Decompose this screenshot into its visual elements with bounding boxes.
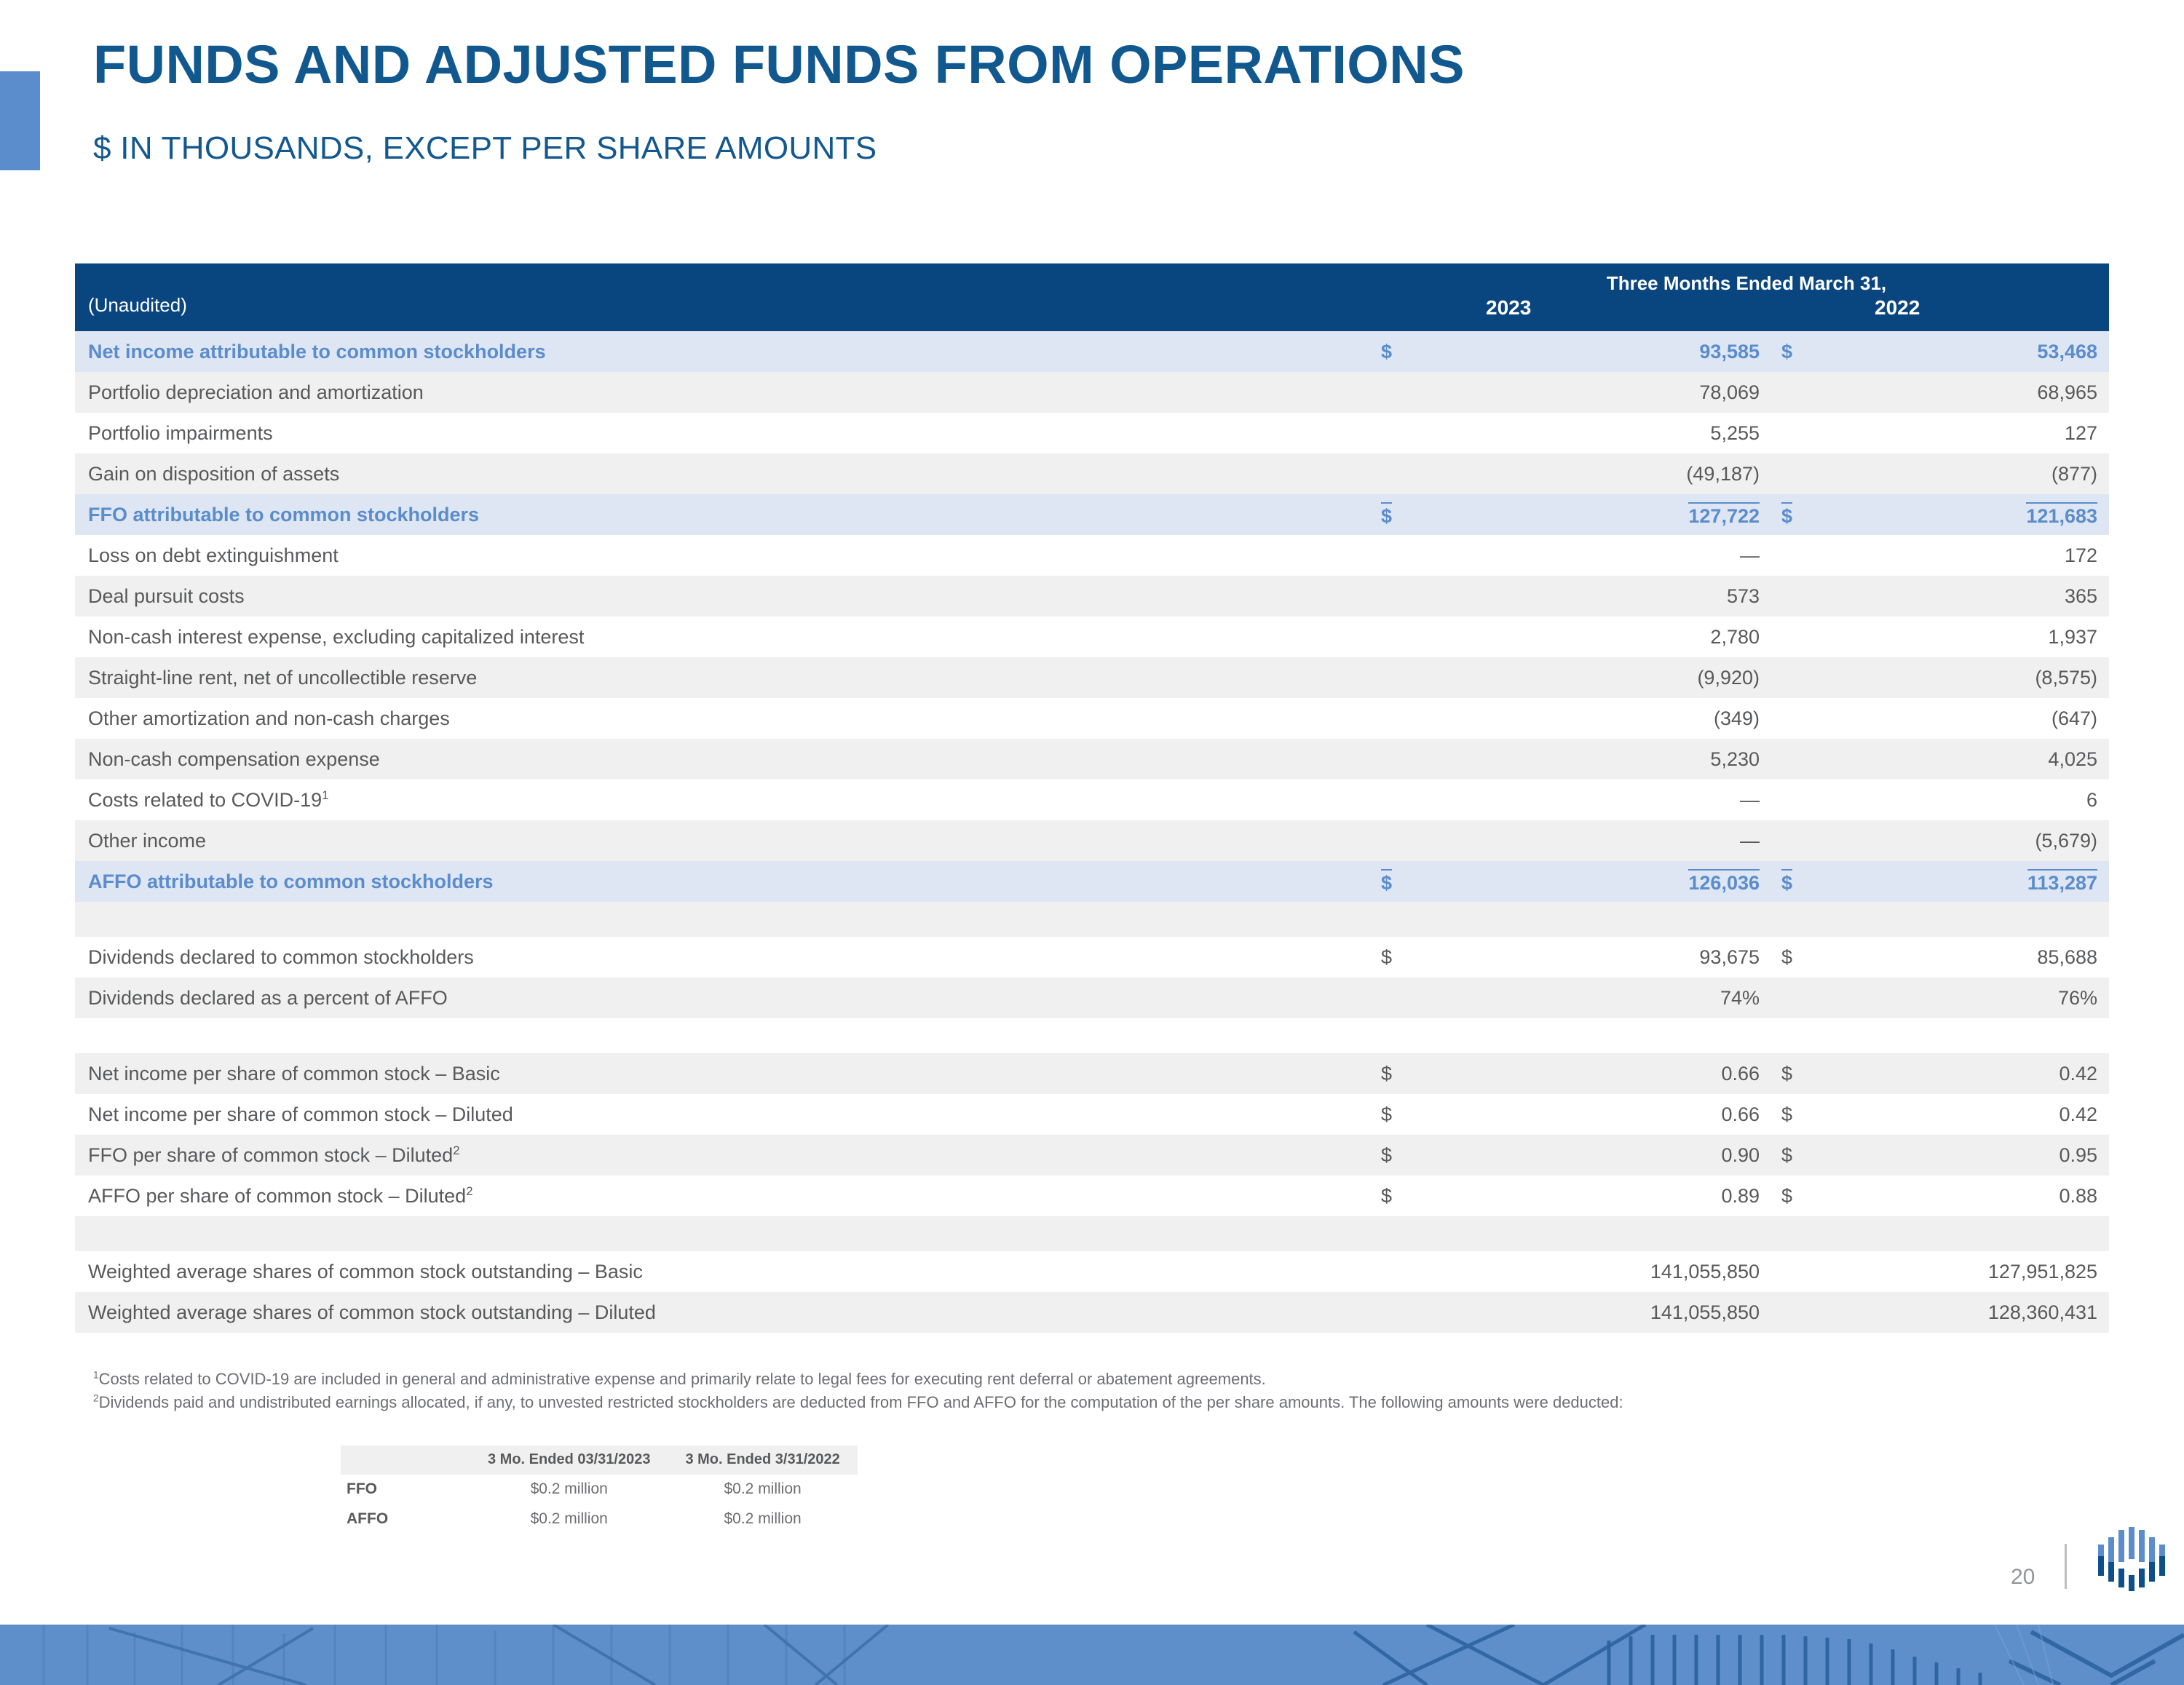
footnote-1-text: Costs related to COVID-19 are included i… (99, 1370, 1266, 1388)
row-label: Portfolio depreciation and amortization (75, 372, 1371, 413)
row-value-2023: 5,255 (1458, 413, 1771, 453)
row-value-2022: 1,937 (1859, 616, 2109, 657)
financial-table: (Unaudited) Three Months Ended March 31,… (75, 263, 2109, 1333)
row-currency-2022 (1771, 820, 1859, 861)
table-row: Weighted average shares of common stock … (75, 1292, 2109, 1333)
row-label: Net income attributable to common stockh… (75, 331, 1371, 372)
row-label: Portfolio impairments (75, 413, 1371, 453)
table-header-block: (Unaudited) Three Months Ended March 31,… (75, 263, 2109, 331)
row-value-2023 (1458, 1216, 1771, 1251)
table-row: FFO per share of common stock – Diluted2… (75, 1135, 2109, 1175)
footnote-table-row: FFO$0.2 million$0.2 million (341, 1475, 858, 1504)
table-row: Deal pursuit costs573365 (75, 576, 2109, 616)
row-label: Gain on disposition of assets (75, 453, 1371, 494)
row-label: Other amortization and non-cash charges (75, 698, 1371, 739)
row-value-2023: 74% (1458, 978, 1771, 1018)
row-value-2023 (1458, 1018, 1771, 1053)
row-value-2022: 121,683 (1859, 494, 2109, 535)
row-currency-2023 (1371, 1251, 1458, 1292)
row-value-2022: 128,360,431 (1859, 1292, 2109, 1333)
row-currency-2022: $ (1771, 1053, 1859, 1094)
table-row: Non-cash interest expense, excluding cap… (75, 616, 2109, 657)
row-currency-2022 (1771, 657, 1859, 698)
footnote-row-value-2023: $0.2 million (470, 1504, 668, 1534)
row-label: FFO attributable to common stockholders (75, 494, 1371, 535)
table-row: AFFO per share of common stock – Diluted… (75, 1175, 2109, 1216)
table-row: Gain on disposition of assets(49,187)(87… (75, 453, 2109, 494)
row-label: AFFO per share of common stock – Diluted… (75, 1175, 1371, 1216)
table-row: FFO attributable to common stockholders$… (75, 494, 2109, 535)
row-value-2022 (1859, 1018, 2109, 1053)
footnote-col-1: 3 Mo. Ended 03/31/2023 (470, 1446, 668, 1475)
row-currency-2023 (1371, 1018, 1458, 1053)
row-value-2023: 0.90 (1458, 1135, 1771, 1175)
table-row: Weighted average shares of common stock … (75, 1251, 2109, 1292)
row-currency-2022 (1771, 902, 1859, 937)
footnote-col-0 (341, 1446, 470, 1475)
row-label: Weighted average shares of common stock … (75, 1292, 1371, 1333)
row-value-2022: (877) (1859, 453, 2109, 494)
footnote-2: 2Dividends paid and undistributed earnin… (93, 1392, 2030, 1414)
row-value-2022 (1859, 1216, 2109, 1251)
row-currency-2023: $ (1371, 494, 1458, 535)
row-currency-2023 (1371, 1292, 1458, 1333)
footnote-2-marker: 2 (93, 1393, 99, 1404)
row-label: Dividends declared to common stockholder… (75, 937, 1371, 978)
row-currency-2022 (1771, 780, 1859, 820)
row-currency-2023: $ (1371, 331, 1458, 372)
row-label (75, 902, 1371, 937)
row-currency-2022 (1771, 1216, 1859, 1251)
row-currency-2022 (1771, 1018, 1859, 1053)
table-header-row: (Unaudited) Three Months Ended March 31,… (75, 263, 2109, 331)
row-value-2022: 0.88 (1859, 1175, 2109, 1216)
row-label: AFFO attributable to common stockholders (75, 861, 1371, 902)
table-row: Dividends declared to common stockholder… (75, 937, 2109, 978)
row-value-2022: (8,575) (1859, 657, 2109, 698)
row-label (75, 1018, 1371, 1053)
footnote-row-value-2023: $0.2 million (470, 1475, 668, 1504)
row-currency-2023 (1371, 453, 1458, 494)
row-value-2022: 0.42 (1859, 1053, 2109, 1094)
table-row: Other amortization and non-cash charges(… (75, 698, 2109, 739)
page-number: 20 (2011, 1565, 2035, 1590)
table-row: Straight-line rent, net of uncollectible… (75, 657, 2109, 698)
row-value-2023: — (1458, 780, 1771, 820)
footnote-1-marker: 1 (93, 1370, 99, 1381)
row-value-2022: 6 (1859, 780, 2109, 820)
row-currency-2023 (1371, 657, 1458, 698)
table-spacer-row (75, 1018, 2109, 1053)
footnote-col-2: 3 Mo. Ended 3/31/2022 (668, 1446, 857, 1475)
table-row: Net income per share of common stock – D… (75, 1094, 2109, 1135)
row-value-2023: 127,722 (1458, 494, 1771, 535)
row-currency-2023 (1371, 978, 1458, 1018)
page-subtitle: $ IN THOUSANDS, EXCEPT PER SHARE AMOUNTS (93, 132, 877, 164)
row-value-2023: 126,036 (1458, 861, 1771, 902)
footnote-table-body: FFO$0.2 million$0.2 millionAFFO$0.2 mill… (341, 1475, 858, 1534)
row-value-2023: 5,230 (1458, 739, 1771, 780)
table-row: Other income—(5,679) (75, 820, 2109, 861)
row-currency-2023 (1371, 576, 1458, 616)
footnote-1: 1Costs related to COVID-19 are included … (93, 1368, 2030, 1390)
row-value-2023: 141,055,850 (1458, 1292, 1771, 1333)
table-row: Net income per share of common stock – B… (75, 1053, 2109, 1094)
row-label: Loss on debt extinguishment (75, 535, 1371, 576)
column-header-2022: 2022 (1875, 296, 1920, 320)
row-value-2023: 0.66 (1458, 1053, 1771, 1094)
row-value-2023: 573 (1458, 576, 1771, 616)
row-value-2022: 172 (1859, 535, 2109, 576)
footnote-2-text: Dividends paid and undistributed earning… (99, 1393, 1623, 1411)
row-currency-2023 (1371, 372, 1458, 413)
row-currency-2023 (1371, 535, 1458, 576)
row-currency-2022: $ (1771, 1094, 1859, 1135)
footnote-row-label: FFO (341, 1475, 470, 1504)
row-label: Net income per share of common stock – D… (75, 1094, 1371, 1135)
row-value-2023: (49,187) (1458, 453, 1771, 494)
footnotes-block: 1Costs related to COVID-19 are included … (93, 1368, 2030, 1416)
row-label-superscript: 2 (453, 1143, 459, 1157)
row-value-2022: (5,679) (1859, 820, 2109, 861)
row-value-2022: 85,688 (1859, 937, 2109, 978)
row-currency-2022: $ (1771, 494, 1859, 535)
row-value-2022: 0.42 (1859, 1094, 2109, 1135)
row-value-2023: 0.66 (1458, 1094, 1771, 1135)
row-currency-2023: $ (1371, 1053, 1458, 1094)
row-currency-2022 (1771, 372, 1859, 413)
row-currency-2022 (1771, 453, 1859, 494)
row-value-2022: 68,965 (1859, 372, 2109, 413)
row-currency-2023 (1371, 698, 1458, 739)
row-currency-2023: $ (1371, 1135, 1458, 1175)
row-currency-2023: $ (1371, 861, 1458, 902)
row-label: Deal pursuit costs (75, 576, 1371, 616)
table-row: Portfolio depreciation and amortization7… (75, 372, 2109, 413)
row-value-2023: 2,780 (1458, 616, 1771, 657)
unaudited-label: (Unaudited) (88, 294, 187, 317)
row-currency-2022 (1771, 616, 1859, 657)
row-label: Straight-line rent, net of uncollectible… (75, 657, 1371, 698)
row-currency-2022: $ (1771, 1135, 1859, 1175)
row-currency-2022 (1771, 698, 1859, 739)
row-value-2023 (1458, 902, 1771, 937)
row-value-2023: — (1458, 820, 1771, 861)
footnote-table-row: AFFO$0.2 million$0.2 million (341, 1504, 858, 1534)
table-row: Dividends declared as a percent of AFFO7… (75, 978, 2109, 1018)
row-label: Weighted average shares of common stock … (75, 1251, 1371, 1292)
row-value-2023: 0.89 (1458, 1175, 1771, 1216)
row-currency-2023 (1371, 1216, 1458, 1251)
footnote-row-label: AFFO (341, 1504, 470, 1534)
row-label: Costs related to COVID-191 (75, 780, 1371, 820)
row-value-2022: 53,468 (1859, 331, 2109, 372)
footnote-mini-table: 3 Mo. Ended 03/31/2023 3 Mo. Ended 3/31/… (341, 1446, 858, 1534)
table-body: Net income attributable to common stockh… (75, 331, 2109, 1333)
period-header-label: Three Months Ended March 31, (1492, 272, 2001, 295)
row-currency-2023 (1371, 780, 1458, 820)
row-value-2022: 365 (1859, 576, 2109, 616)
row-value-2022: 127,951,825 (1859, 1251, 2109, 1292)
bottom-banner-graphic (0, 1625, 2184, 1685)
row-value-2023: 141,055,850 (1458, 1251, 1771, 1292)
row-currency-2023 (1371, 902, 1458, 937)
row-value-2022: 127 (1859, 413, 2109, 453)
row-currency-2023: $ (1371, 1175, 1458, 1216)
row-currency-2023 (1371, 413, 1458, 453)
table-row: Costs related to COVID-191—6 (75, 780, 2109, 820)
footnote-table-header-row: 3 Mo. Ended 03/31/2023 3 Mo. Ended 3/31/… (341, 1446, 858, 1475)
row-value-2023: 93,585 (1458, 331, 1771, 372)
row-label (75, 1216, 1371, 1251)
footnote-2-wrapper: 2Dividends paid and undistributed earnin… (93, 1392, 2030, 1414)
table-spacer-row (75, 902, 2109, 937)
row-value-2022 (1859, 902, 2109, 937)
footer-divider (2065, 1544, 2067, 1589)
row-value-2022: 4,025 (1859, 739, 2109, 780)
row-currency-2023: $ (1371, 1094, 1458, 1135)
table-row: AFFO attributable to common stockholders… (75, 861, 2109, 902)
table-row: Net income attributable to common stockh… (75, 331, 2109, 372)
row-label: Non-cash compensation expense (75, 739, 1371, 780)
row-label-superscript: 1 (322, 788, 328, 802)
row-label: Dividends declared as a percent of AFFO (75, 978, 1371, 1018)
table-row: Portfolio impairments5,255127 (75, 413, 2109, 453)
row-currency-2022: $ (1771, 861, 1859, 902)
row-value-2023: (349) (1458, 698, 1771, 739)
row-currency-2022: $ (1771, 1175, 1859, 1216)
row-label: Net income per share of common stock – B… (75, 1053, 1371, 1094)
row-label-superscript: 2 (466, 1184, 472, 1198)
row-value-2023: (9,920) (1458, 657, 1771, 698)
row-currency-2023 (1371, 739, 1458, 780)
row-currency-2022 (1771, 576, 1859, 616)
brand-logo-icon (2095, 1527, 2175, 1597)
row-currency-2022 (1771, 1292, 1859, 1333)
footnote-row-value-2022: $0.2 million (668, 1504, 857, 1534)
table-row: Non-cash compensation expense5,2304,025 (75, 739, 2109, 780)
row-currency-2022 (1771, 1251, 1859, 1292)
row-value-2022: 76% (1859, 978, 2109, 1018)
row-currency-2023: $ (1371, 937, 1458, 978)
row-value-2023: 93,675 (1458, 937, 1771, 978)
row-label: FFO per share of common stock – Diluted2 (75, 1135, 1371, 1175)
row-currency-2023 (1371, 616, 1458, 657)
row-currency-2022 (1771, 413, 1859, 453)
column-header-2023: 2023 (1486, 296, 1531, 320)
title-accent-bar (0, 71, 40, 170)
row-value-2023: — (1458, 535, 1771, 576)
row-label: Non-cash interest expense, excluding cap… (75, 616, 1371, 657)
row-label: Other income (75, 820, 1371, 861)
footnote-row-value-2022: $0.2 million (668, 1475, 857, 1504)
row-value-2022: (647) (1859, 698, 2109, 739)
row-value-2022: 113,287 (1859, 861, 2109, 902)
row-currency-2022 (1771, 978, 1859, 1018)
row-currency-2022: $ (1771, 331, 1859, 372)
row-currency-2022 (1771, 535, 1859, 576)
row-value-2022: 0.95 (1859, 1135, 2109, 1175)
row-currency-2023 (1371, 820, 1458, 861)
row-currency-2022: $ (1771, 937, 1859, 978)
row-currency-2022 (1771, 739, 1859, 780)
table-spacer-row (75, 1216, 2109, 1251)
row-value-2023: 78,069 (1458, 372, 1771, 413)
page-title: FUNDS AND ADJUSTED FUNDS FROM OPERATIONS (93, 38, 1465, 92)
table-row: Loss on debt extinguishment—172 (75, 535, 2109, 576)
